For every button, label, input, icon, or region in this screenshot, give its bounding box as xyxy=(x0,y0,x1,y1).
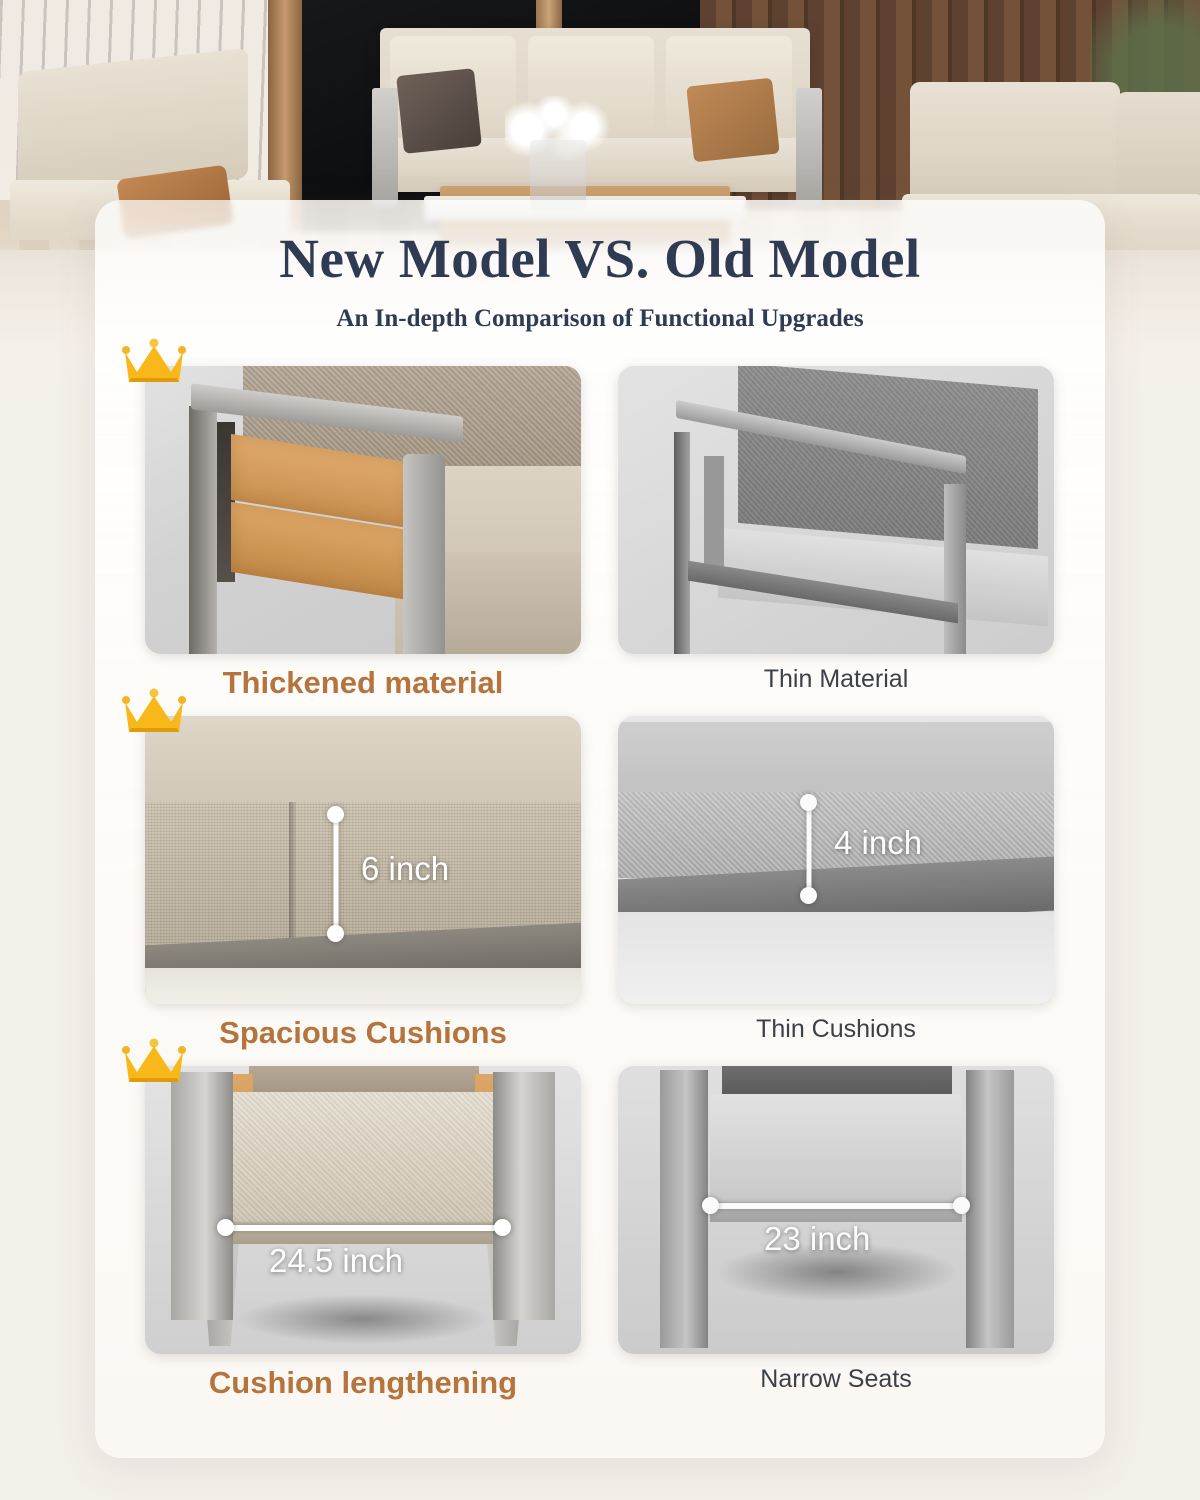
new-caption-material: Thickened material xyxy=(145,667,581,698)
new-thick-cushion-photo: 6 inch xyxy=(145,716,581,1004)
comparison-row-cushions: 6 inch Spacious Cushions xyxy=(95,710,1105,1060)
crown-icon xyxy=(121,338,187,386)
new-wide-seat-chair-photo: 24.5 inch xyxy=(145,1066,581,1354)
measurement-label: 24.5 inch xyxy=(269,1242,403,1280)
old-model-cell-cushions[interactable]: 4 inch Thin Cushions xyxy=(618,716,1054,1042)
new-model-cell-seat-width[interactable]: 24.5 inch Cushion lengthening xyxy=(145,1066,581,1398)
measurement-24point5-inch: 24.5 inch xyxy=(217,1216,511,1240)
comparison-row-seat-width: 24.5 inch Cushion lengthening xyxy=(95,1060,1105,1410)
new-model-cell-material[interactable]: Thickened material xyxy=(145,366,581,698)
crown-icon xyxy=(121,688,187,736)
old-caption-material: Thin Material xyxy=(618,667,1054,692)
new-armrest-wood-slats-photo xyxy=(145,366,581,654)
new-model-cell-cushions[interactable]: 6 inch Spacious Cushions xyxy=(145,716,581,1048)
measurement-label: 23 inch xyxy=(764,1220,870,1258)
page-title: New Model VS. Old Model xyxy=(95,227,1105,290)
old-narrow-seat-chair-photo: 23 inch xyxy=(618,1066,1054,1354)
comparison-card: New Model VS. Old Model An In-depth Comp… xyxy=(95,200,1105,1458)
page-subtitle: An In-depth Comparison of Functional Upg… xyxy=(95,305,1105,333)
new-caption-seat-width: Cushion lengthening xyxy=(145,1367,581,1398)
old-thin-cushion-photo: 4 inch xyxy=(618,716,1054,1004)
old-model-cell-material[interactable]: Thin Material xyxy=(618,366,1054,692)
comparison-row-material: Thickened material Thin Material xyxy=(95,360,1105,710)
old-model-cell-seat-width[interactable]: 23 inch Narrow Seats xyxy=(618,1066,1054,1392)
old-armrest-thin-frame-photo xyxy=(618,366,1054,654)
comparison-rows: Thickened material Thin Material xyxy=(95,360,1105,1410)
measurement-label: 6 inch xyxy=(361,850,449,888)
old-caption-cushions: Thin Cushions xyxy=(618,1017,1054,1042)
measurement-6-inch: 6 inch xyxy=(321,806,351,942)
measurement-23-inch: 23 inch xyxy=(702,1194,970,1218)
crown-icon xyxy=(121,1038,187,1086)
old-caption-seat-width: Narrow Seats xyxy=(618,1367,1054,1392)
measurement-label: 4 inch xyxy=(834,824,922,862)
measurement-4-inch: 4 inch xyxy=(794,794,824,904)
new-caption-cushions: Spacious Cushions xyxy=(145,1017,581,1048)
